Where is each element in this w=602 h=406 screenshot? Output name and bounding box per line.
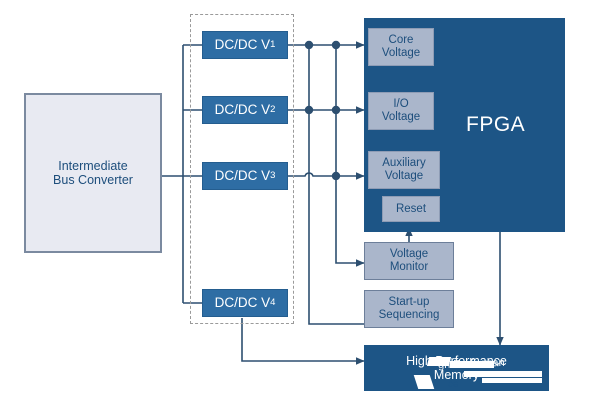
voltage-monitor-line1: Voltage — [390, 248, 428, 261]
dcdc-converter-v1[interactable]: DC/DC V1 — [202, 31, 288, 59]
dcdc-converter-v4[interactable]: DC/DC V4 — [202, 289, 288, 317]
ibc-label-line2: Bus Converter — [53, 173, 133, 187]
fpga-label: FPGA — [466, 113, 525, 137]
core-voltage-line1: Core — [389, 34, 414, 47]
memory-artifact-text-1: gh Performan — [438, 357, 505, 371]
junction-dot — [332, 106, 340, 114]
block-diagram-canvas: Intermediate Bus Converter DC/DC V1 DC/D… — [0, 0, 602, 406]
ibc-label-line1: Intermediate — [58, 159, 127, 173]
fpga-rail-core-voltage[interactable]: Core Voltage — [368, 28, 434, 66]
io-voltage-line1: I/O — [393, 98, 408, 111]
wire-rail-to-startup — [309, 45, 364, 324]
startup-sequencing-line1: Start-up — [389, 296, 430, 309]
dcdc-v1-label: DC/DC V — [215, 37, 271, 53]
reset-label: Reset — [396, 203, 426, 216]
junction-dot — [332, 41, 340, 49]
intermediate-bus-converter-block[interactable]: Intermediate Bus Converter — [24, 93, 162, 253]
junction-dot — [332, 172, 340, 180]
io-voltage-line2: Voltage — [382, 111, 420, 124]
wire-dcdc4-to-memory — [242, 318, 364, 361]
voltage-monitor-block[interactable]: Voltage Monitor — [364, 242, 454, 280]
voltage-monitor-line2: Monitor — [390, 261, 428, 274]
dcdc-v2-label: DC/DC V — [215, 102, 271, 118]
junction-dot — [305, 106, 313, 114]
dcdc-converter-v3[interactable]: DC/DC V3 — [202, 162, 288, 190]
core-voltage-line2: Voltage — [382, 47, 420, 60]
startup-sequencing-block[interactable]: Start-up Sequencing — [364, 290, 454, 328]
memory-render-artifact: gh Performan ce — [364, 345, 549, 391]
auxiliary-voltage-line1: Auxiliary — [382, 157, 425, 170]
junction-dots — [305, 41, 340, 180]
fpga-rail-io-voltage[interactable]: I/O Voltage — [368, 92, 434, 130]
junction-dot — [305, 41, 313, 49]
dcdc-v4-label: DC/DC V — [215, 295, 271, 311]
fpga-rail-auxiliary-voltage[interactable]: Auxiliary Voltage — [368, 151, 440, 189]
dcdc-v3-label: DC/DC V — [215, 168, 271, 184]
wire-dcdc3-out — [288, 173, 364, 176]
fpga-rail-reset[interactable]: Reset — [382, 196, 440, 222]
auxiliary-voltage-line2: Voltage — [385, 170, 423, 183]
dcdc-converter-v2[interactable]: DC/DC V2 — [202, 96, 288, 124]
startup-sequencing-line2: Sequencing — [379, 309, 440, 322]
wire-rail-to-vmonitor — [336, 45, 364, 263]
memory-artifact-text-2: ce — [448, 379, 459, 390]
